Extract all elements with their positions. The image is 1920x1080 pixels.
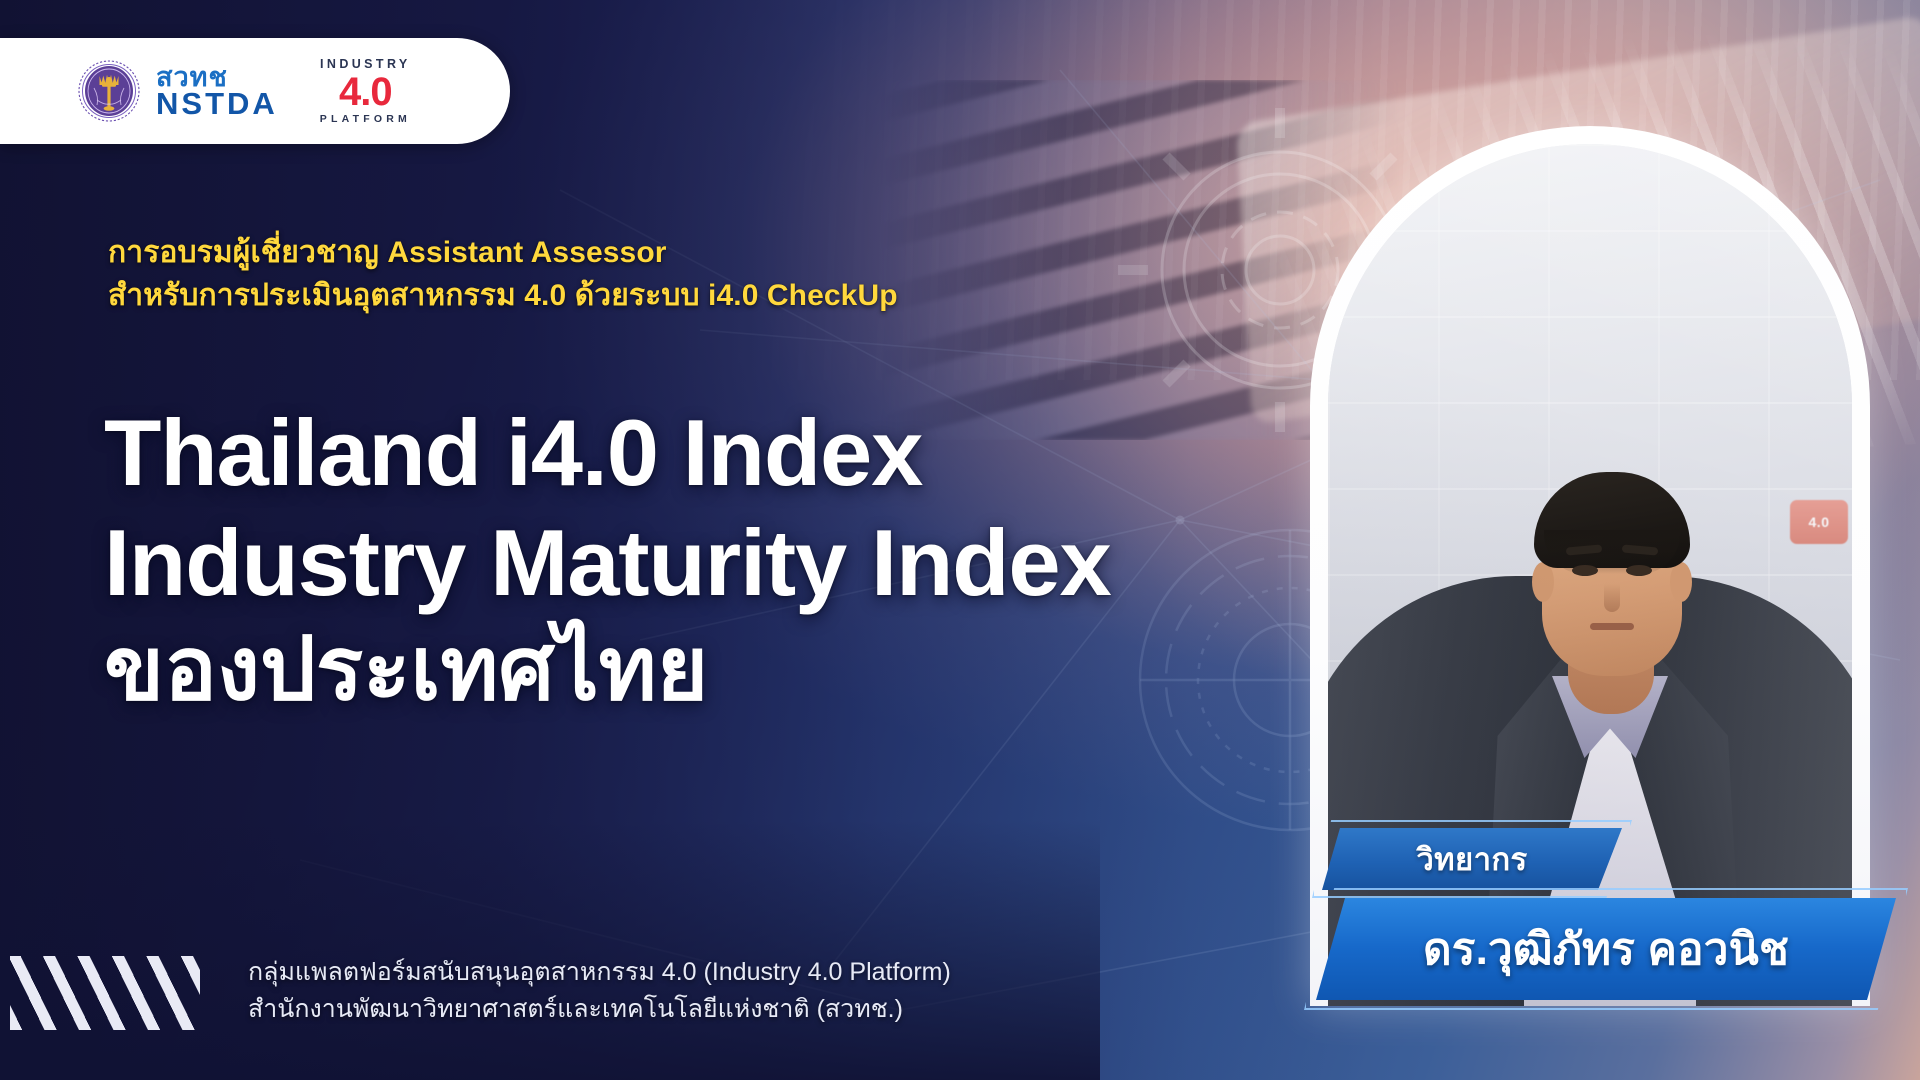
promo-banner-canvas: สวทช NSTDA INDUSTRY 4.0 PLATFORM การอบรม… bbox=[0, 0, 1920, 1080]
speaker-name-label: ดร.วุฒิภัทร คอวนิช bbox=[1423, 914, 1789, 984]
speaker-name-badge: ดร.วุฒิภัทร คอวนิช bbox=[1316, 898, 1896, 1000]
footer-line-2: สำนักงานพัฒนาวิทยาศาสตร์และเทคโนโลยีแห่ง… bbox=[248, 991, 1248, 1028]
headline-line-3: ของประเทศไทย bbox=[104, 618, 1424, 721]
corner-watermark-badge: 4.0 bbox=[1790, 500, 1848, 544]
footer-line-1: กลุ่มแพลตฟอร์มสนับสนุนอุตสาหกรรม 4.0 (In… bbox=[248, 954, 1248, 991]
footer-organization: กลุ่มแพลตฟอร์มสนับสนุนอุตสาหกรรม 4.0 (In… bbox=[248, 954, 1248, 1028]
headline-line-1: Thailand i4.0 Index bbox=[104, 398, 1424, 508]
industry-40-platform-mark: INDUSTRY 4.0 PLATFORM bbox=[320, 58, 411, 124]
background-bottom-fade bbox=[0, 820, 1100, 1080]
nstda-royal-seal-icon bbox=[78, 60, 140, 122]
page-title: Thailand i4.0 Index Industry Maturity In… bbox=[104, 398, 1424, 721]
industry-label: INDUSTRY bbox=[320, 58, 411, 71]
nstda-latin-label: NSTDA bbox=[156, 88, 278, 119]
platform-label: PLATFORM bbox=[320, 114, 411, 125]
footer-diagonal-stripes-icon bbox=[10, 956, 200, 1030]
logo-lockup-pill: สวทช NSTDA INDUSTRY 4.0 PLATFORM bbox=[0, 38, 510, 144]
speaker-role-label: วิทยากร bbox=[1416, 834, 1527, 884]
version-40-label: 4.0 bbox=[339, 72, 392, 112]
speaker-role-badge: วิทยากร bbox=[1322, 828, 1622, 890]
kicker-line-1: การอบรมผู้เชี่ยวชาญ Assistant Assessor bbox=[108, 232, 1228, 275]
kicker-line-2: สำหรับการประเมินอุตสาหกรรม 4.0 ด้วยระบบ … bbox=[108, 275, 1228, 318]
headline-line-2: Industry Maturity Index bbox=[104, 508, 1424, 618]
kicker-subtitle: การอบรมผู้เชี่ยวชาญ Assistant Assessor ส… bbox=[108, 232, 1228, 317]
nstda-wordmark: สวทช NSTDA bbox=[156, 64, 278, 119]
